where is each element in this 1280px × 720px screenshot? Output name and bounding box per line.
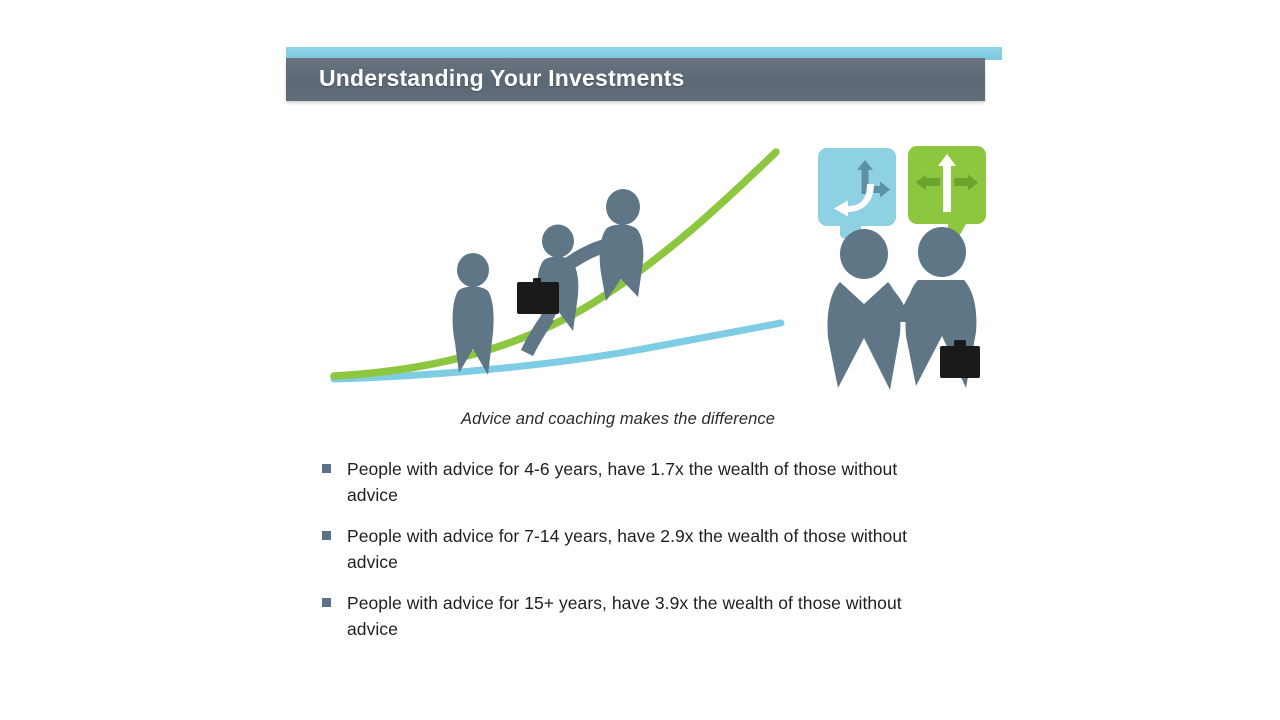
chart-caption: Advice and coaching makes the difference [318,410,918,429]
briefcase-icon [940,340,980,378]
list-item-label: People with advice for 15+ years, have 3… [347,590,917,642]
list-item-label: People with advice for 4-6 years, have 1… [347,456,917,508]
slide-canvas: Understanding Your Investments [0,0,1280,720]
bullet-list: People with advice for 4-6 years, have 1… [322,456,942,657]
growth-chart [318,143,798,401]
list-item: People with advice for 15+ years, have 3… [322,590,942,642]
square-bullet-icon [322,531,331,540]
advisor-client-illustration [812,142,992,394]
square-bullet-icon [322,464,331,473]
square-bullet-icon [322,598,331,607]
briefcase-icon [517,278,559,314]
title-bar: Understanding Your Investments [286,58,985,101]
list-item-label: People with advice for 7-14 years, have … [347,523,917,575]
list-item: People with advice for 7-14 years, have … [322,523,942,575]
page-title: Understanding Your Investments [319,65,685,92]
climbing-pair-figure [521,189,643,356]
list-item: People with advice for 4-6 years, have 1… [322,456,942,508]
